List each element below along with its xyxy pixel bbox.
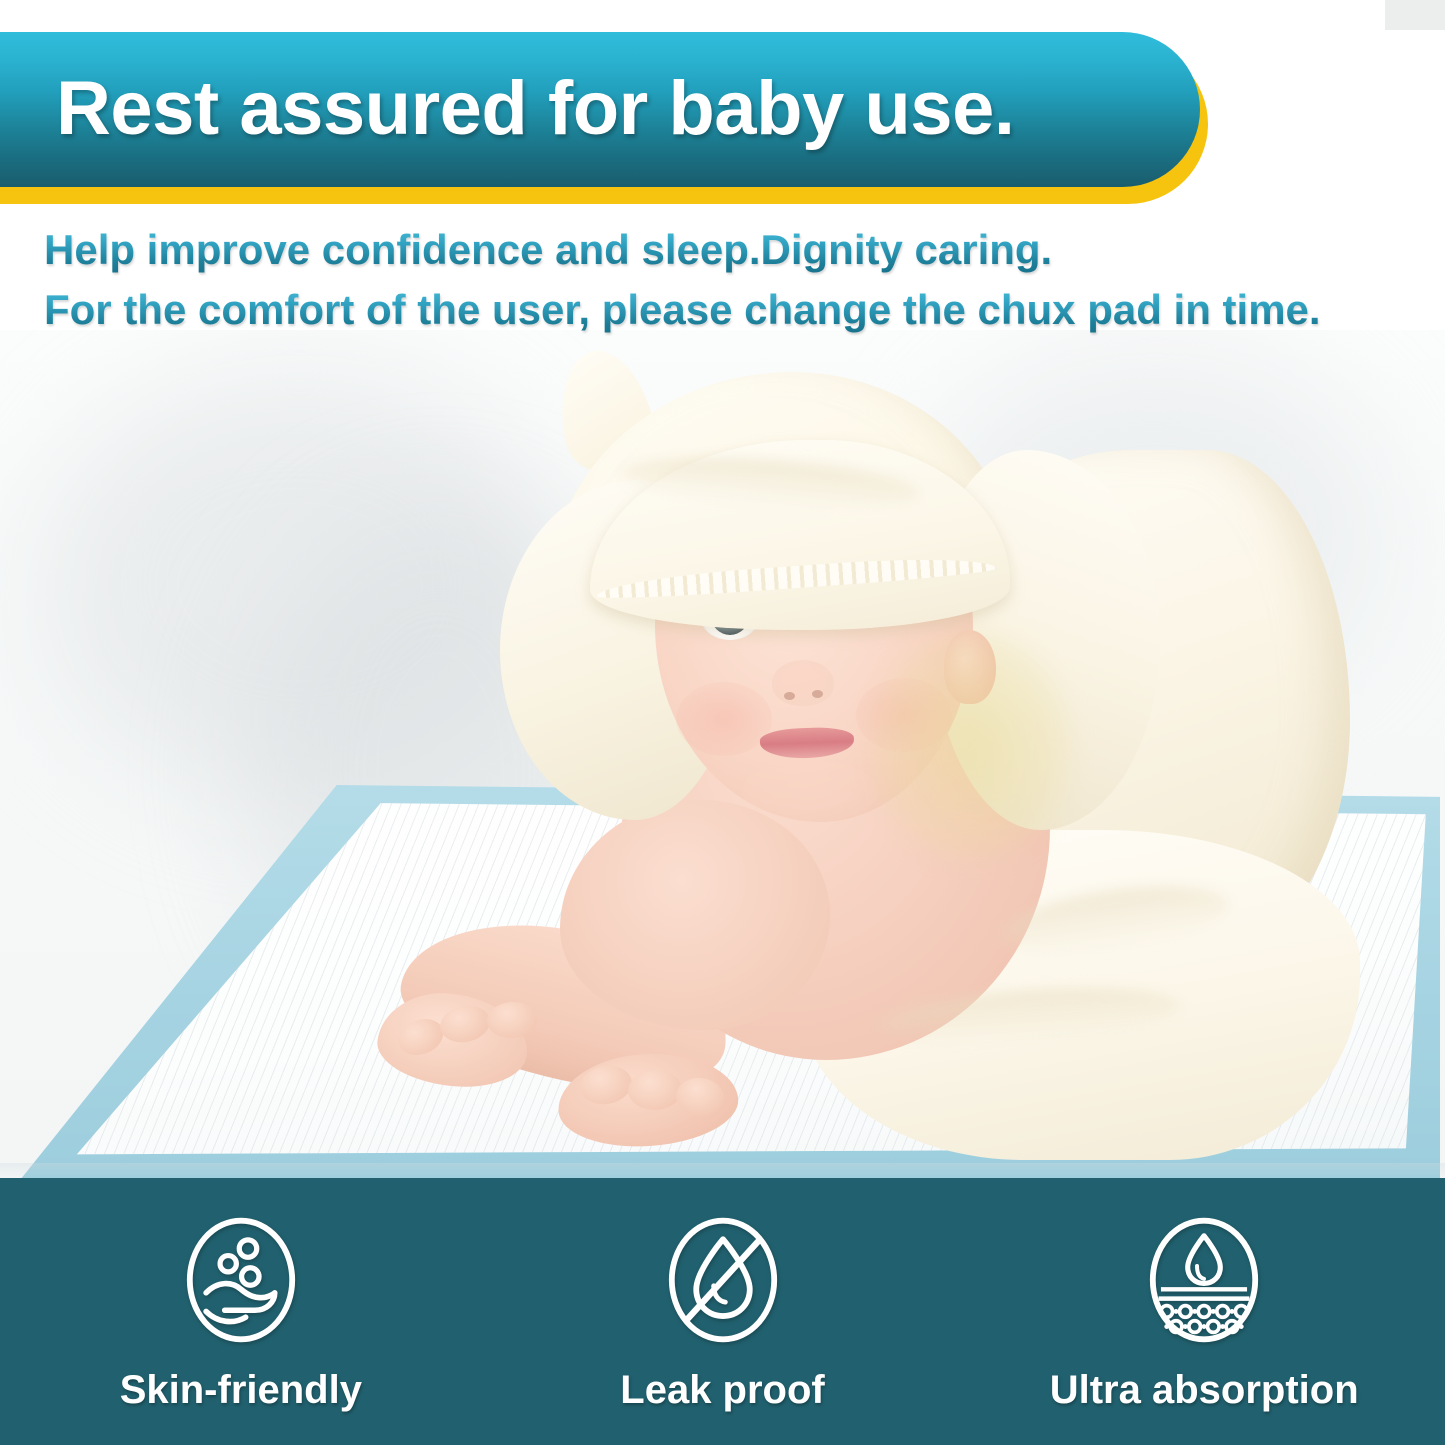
feature-label: Skin-friendly: [120, 1368, 362, 1413]
subtitle-line-1: Help improve confidence and sleep.Dignit…: [44, 220, 1414, 280]
product-feature-poster: Rest assured for baby use. Help improve …: [0, 0, 1445, 1445]
banner-title: Rest assured for baby use.: [56, 64, 1014, 151]
feature-skin-friendly: Skin-friendly: [0, 1178, 482, 1413]
feature-label: Ultra absorption: [1050, 1368, 1359, 1413]
product-photo: [0, 330, 1445, 1178]
feature-bar: Skin-friendly Leak proof: [0, 1178, 1445, 1445]
baby-nostril-left: [784, 692, 795, 700]
droplet-absorption-layers-icon: [1145, 1216, 1263, 1344]
no-water-droplet-icon: [664, 1216, 782, 1344]
baby-nose: [772, 660, 834, 706]
hand-with-bubbles-icon: [182, 1216, 300, 1344]
subtitle-block: Help improve confidence and sleep.Dignit…: [44, 220, 1414, 340]
feature-leak-proof: Leak proof: [482, 1178, 964, 1413]
baby-nostril-right: [812, 690, 823, 698]
subtitle-line-2: For the comfort of the user, please chan…: [44, 280, 1414, 340]
towel-warm-tint: [870, 630, 1070, 860]
banner-body: Rest assured for baby use.: [0, 32, 1200, 187]
chux-pad-shadow: [0, 1163, 1445, 1178]
baby-cheek-left: [676, 682, 772, 756]
feature-ultra-absorption: Ultra absorption: [963, 1178, 1445, 1413]
corner-tint: [1385, 0, 1445, 30]
header-banner: Rest assured for baby use.: [0, 32, 1215, 197]
feature-label: Leak proof: [620, 1368, 824, 1413]
baby-chin: [742, 760, 878, 822]
